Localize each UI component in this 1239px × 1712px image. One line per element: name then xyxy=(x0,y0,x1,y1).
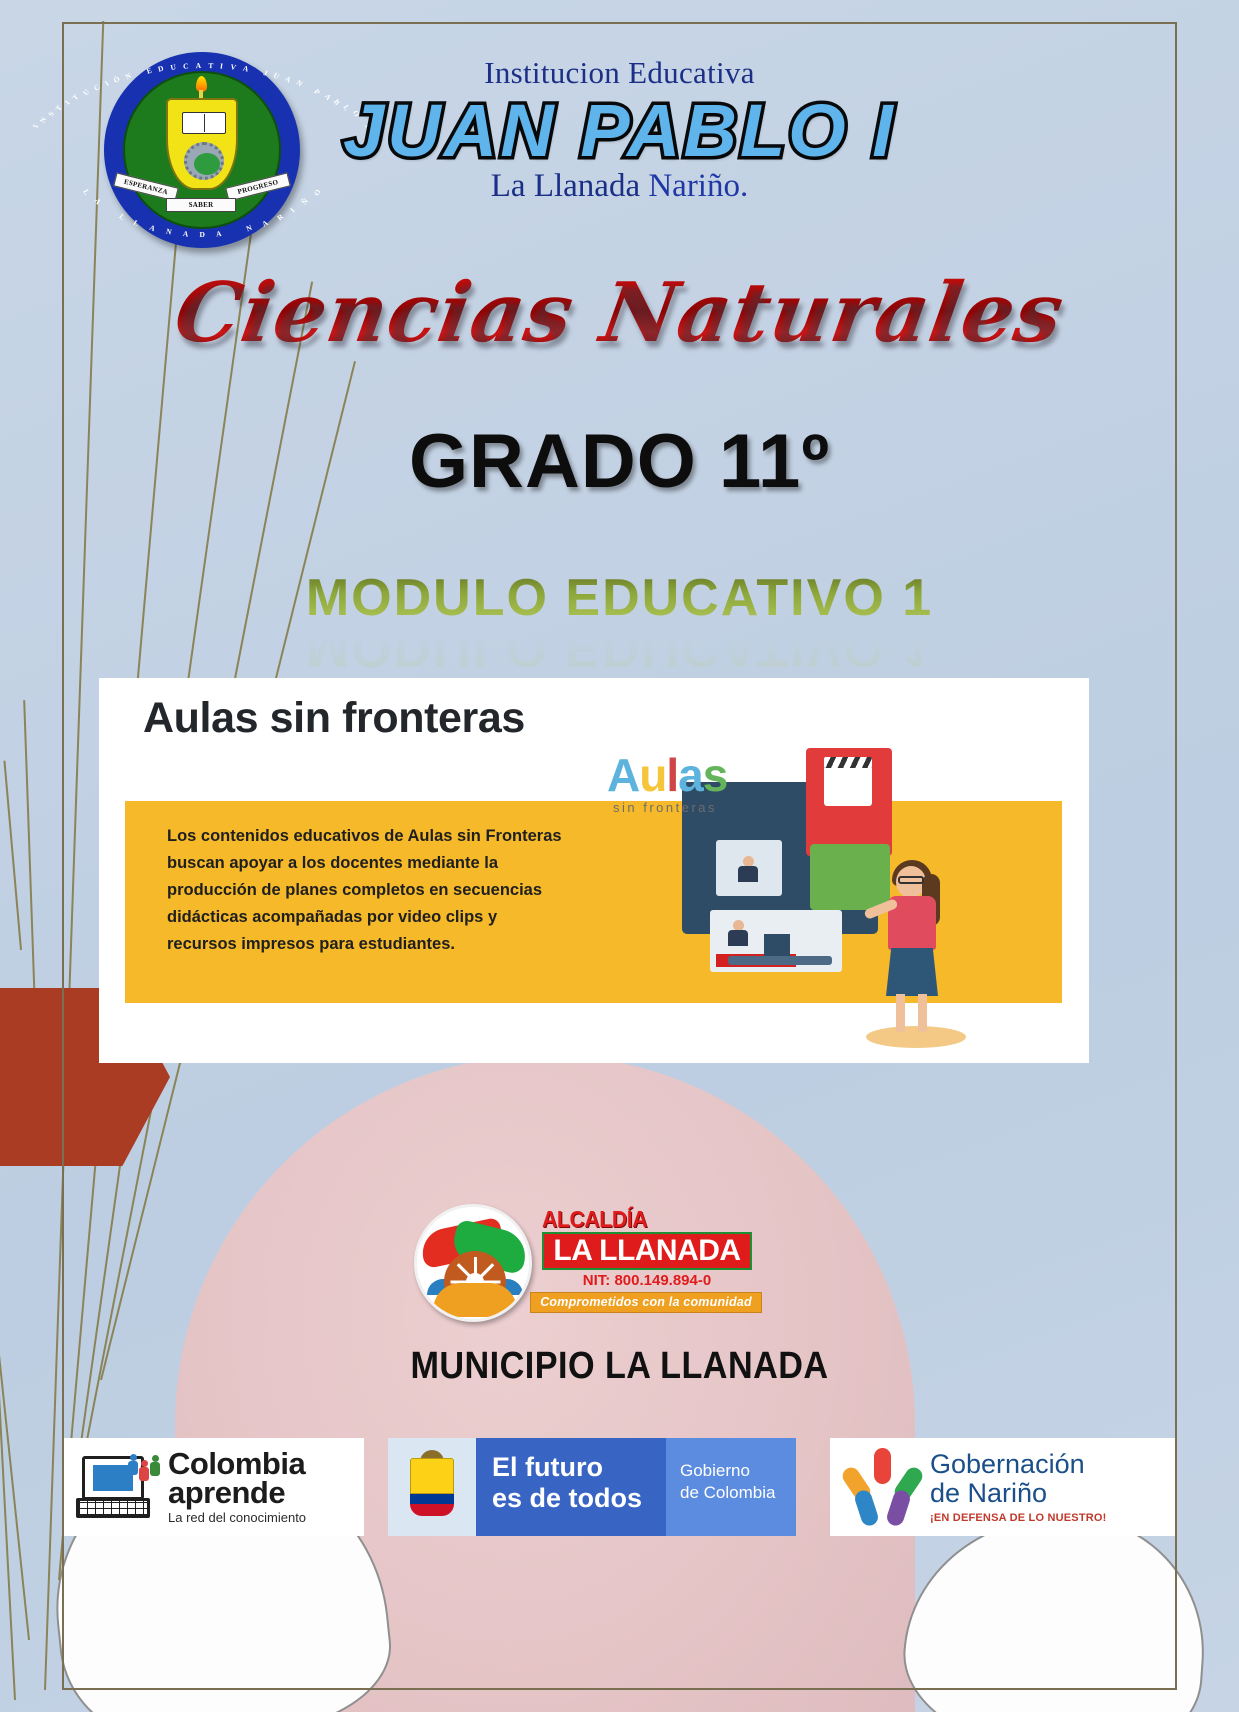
colombia-aprende-line3: La red del conocimiento xyxy=(168,1510,306,1525)
gobernacion-narino-logo: Gobernación de Nariño ¡EN DEFENSA DE LO … xyxy=(830,1438,1175,1536)
aulas-letter-3: l xyxy=(666,749,678,801)
gobernacion-line3: ¡EN DEFENSA DE LO NUESTRO! xyxy=(930,1512,1107,1524)
institution-line: Institucion Educativa xyxy=(0,55,1239,91)
crest-arc-bottom-text: LA LLANADA NARIÑO xyxy=(104,230,300,239)
person-icon-green xyxy=(150,1455,160,1477)
module-title-block: MODULO EDUCATIVO 1 MODULO EDUCATIVO 1 xyxy=(0,568,1239,678)
gobierno-line4: de Colombia xyxy=(680,1482,796,1504)
video-thumbnail-presenter xyxy=(716,840,782,896)
aulas-logo-tagline: sin fronteras xyxy=(613,800,787,815)
presenter-body xyxy=(738,866,758,882)
gobierno-de-colombia-logo: El futuro es de todos Gobierno de Colomb… xyxy=(388,1438,796,1536)
person-icon-blue xyxy=(128,1454,138,1476)
figure-skirt xyxy=(886,948,938,996)
school-name-title: JUAN PABLO I xyxy=(0,88,1239,173)
figure-shadow xyxy=(866,1026,966,1048)
municipio-label: MUNICIPIO LA LLANADA xyxy=(62,1345,1177,1388)
location-line: La Llanada Nariño. xyxy=(0,168,1239,205)
gobierno-slogan-panel: El futuro es de todos xyxy=(476,1438,666,1536)
gobierno-line3: Gobierno xyxy=(680,1460,796,1482)
grass-blade xyxy=(23,700,36,1010)
person-figure-icon xyxy=(885,1488,912,1527)
grass-blade xyxy=(3,761,22,950)
emblem-hand-icon xyxy=(433,1283,517,1317)
grade-title: GRADO 11º xyxy=(0,418,1239,505)
aulas-letter-1: A xyxy=(607,749,639,801)
aulas-letter-5: s xyxy=(703,749,728,801)
student-figure xyxy=(870,860,956,1040)
monitor-stand xyxy=(728,956,832,965)
gobierno-line2: es de todos xyxy=(492,1483,666,1514)
person-figure-icon xyxy=(874,1448,891,1484)
gobernacion-text: Gobernación de Nariño ¡EN DEFENSA DE LO … xyxy=(930,1450,1107,1524)
presenter-figure-icon xyxy=(738,856,758,882)
person-figure-icon xyxy=(853,1488,880,1527)
figure-glasses-icon xyxy=(898,876,924,884)
colombia-aprende-line1: Colombia xyxy=(168,1449,306,1478)
location-prefix: La Llanada xyxy=(491,168,649,204)
keyboard-icon xyxy=(76,1498,150,1518)
gobernacion-line2: de Nariño xyxy=(930,1479,1107,1508)
shield-red-band xyxy=(410,1504,454,1516)
gobierno-line1: El futuro xyxy=(492,1452,666,1483)
colombia-aprende-line2: aprende xyxy=(168,1478,306,1507)
location-suffix: Nariño. xyxy=(648,168,748,204)
clapperboard-icon xyxy=(824,766,872,806)
colombia-aprende-logo: Colombia aprende La red del conocimiento xyxy=(64,1438,364,1536)
video-card-red xyxy=(806,748,892,856)
colombia-coat-of-arms-panel xyxy=(388,1438,476,1536)
colombia-aprende-text: Colombia aprende La red del conocimiento xyxy=(168,1449,306,1525)
module-title-reflection: MODULO EDUCATIVO 1 xyxy=(0,618,1239,678)
cover-page: INSTITUCIÓN EDUCATIVA JUAN PABLO I LA LL… xyxy=(0,0,1239,1712)
news-anchor-figure-icon xyxy=(728,920,748,946)
subject-title: Ciencias Naturales xyxy=(0,265,1239,361)
aulas-wordmark: Aulas xyxy=(607,752,787,798)
alcaldia-emblem-icon xyxy=(414,1204,532,1322)
alcaldia-name-banner: LA LLANADA xyxy=(542,1232,752,1270)
alcaldia-logo-block: ALCALDÍA MUNICIPAL LA LLANADA NIT: 800.1… xyxy=(414,1196,759,1331)
alcaldia-slogan: Comprometidos con la comunidad xyxy=(530,1292,762,1313)
alcaldia-nit: NIT: 800.149.894-0 xyxy=(542,1272,752,1289)
footer-logo-row: Colombia aprende La red del conocimiento… xyxy=(64,1438,1175,1536)
coat-of-arms-icon xyxy=(410,1458,454,1516)
shield-yellow-band xyxy=(410,1458,454,1494)
aulas-letter-2: u xyxy=(639,749,666,801)
panel-title: Aulas sin fronteras xyxy=(143,694,525,743)
panel-body-text: Los contenidos educativos de Aulas sin F… xyxy=(167,823,567,958)
anchor-body xyxy=(728,930,748,946)
figure-leg-left xyxy=(896,994,905,1032)
figure-leg-right xyxy=(918,994,927,1032)
people-star-icon xyxy=(844,1450,922,1524)
gobierno-name-panel: Gobierno de Colombia xyxy=(666,1438,796,1536)
gobernacion-line1: Gobernación xyxy=(930,1450,1107,1479)
computer-icon xyxy=(76,1452,162,1522)
aulas-sin-fronteras-logo: Aulas sin fronteras xyxy=(607,752,787,824)
alcaldia-line2: LA LLANADA xyxy=(544,1234,750,1268)
person-icon-red xyxy=(139,1460,149,1482)
shield-blue-band xyxy=(410,1494,454,1504)
aulas-letter-4: a xyxy=(678,749,703,801)
